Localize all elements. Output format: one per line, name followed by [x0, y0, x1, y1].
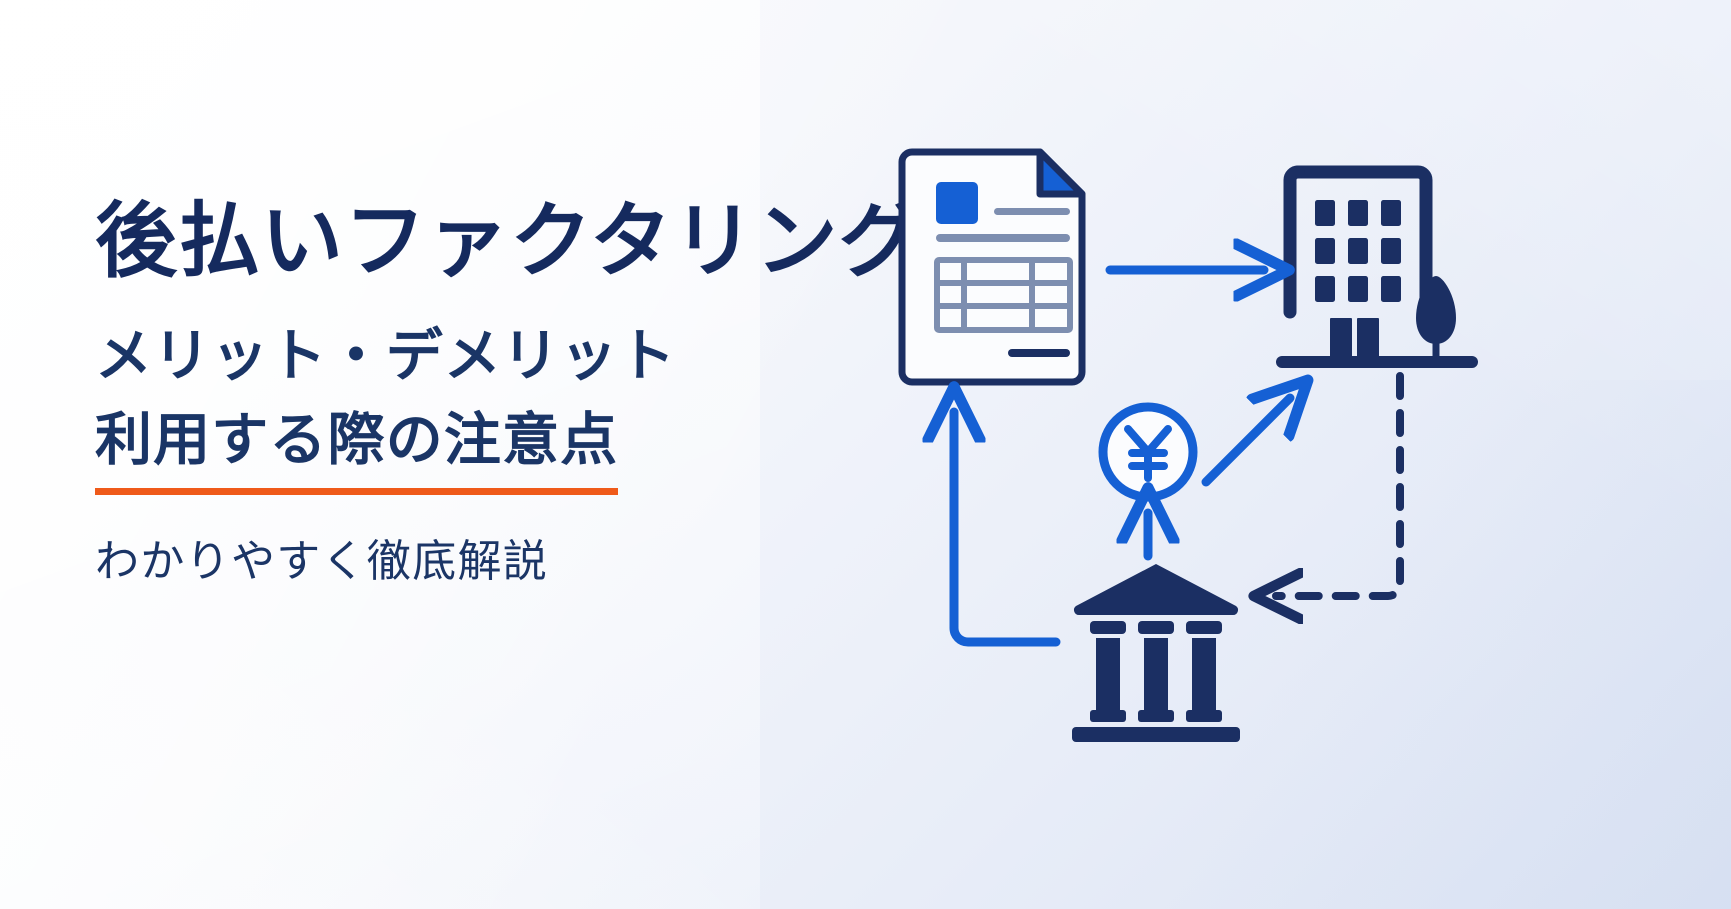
subtitle-cautions: 利用する際の注意点 [95, 409, 618, 472]
tagline: わかりやすく徹底解説 [95, 533, 855, 590]
subtitle-merits: メリット・デメリット [95, 318, 855, 397]
arrow-bank-to-invoice [954, 412, 1056, 642]
arrow-client-to-bank [1276, 376, 1400, 596]
building-door [1330, 318, 1379, 362]
invoice-document-icon [902, 152, 1082, 382]
title-block: 後払いファクタリング メリット・デメリット 利用する際の注意点 わかりやすく徹底… [95, 196, 855, 590]
bank-columns [1096, 638, 1216, 710]
factoring-bank-icon [1072, 564, 1240, 742]
arrow-bank-to-client [1206, 398, 1290, 482]
page-title: 後払いファクタリング [95, 196, 855, 288]
bank-bases [1090, 710, 1222, 722]
document-logo-block [936, 182, 978, 224]
factoring-flow-diagram [860, 90, 1680, 790]
bank-capitals [1090, 621, 1222, 634]
poster-canvas: 後払いファクタリング メリット・デメリット 利用する際の注意点 わかりやすく徹底… [0, 0, 1731, 909]
bank-pediment [1074, 564, 1238, 615]
bank-base-slab [1072, 727, 1240, 742]
client-building-icon [1282, 172, 1472, 364]
yen-coin-icon [1103, 407, 1193, 497]
subtitle-cautions-wrap: 利用する際の注意点 [95, 396, 855, 495]
building-windows [1315, 200, 1401, 302]
